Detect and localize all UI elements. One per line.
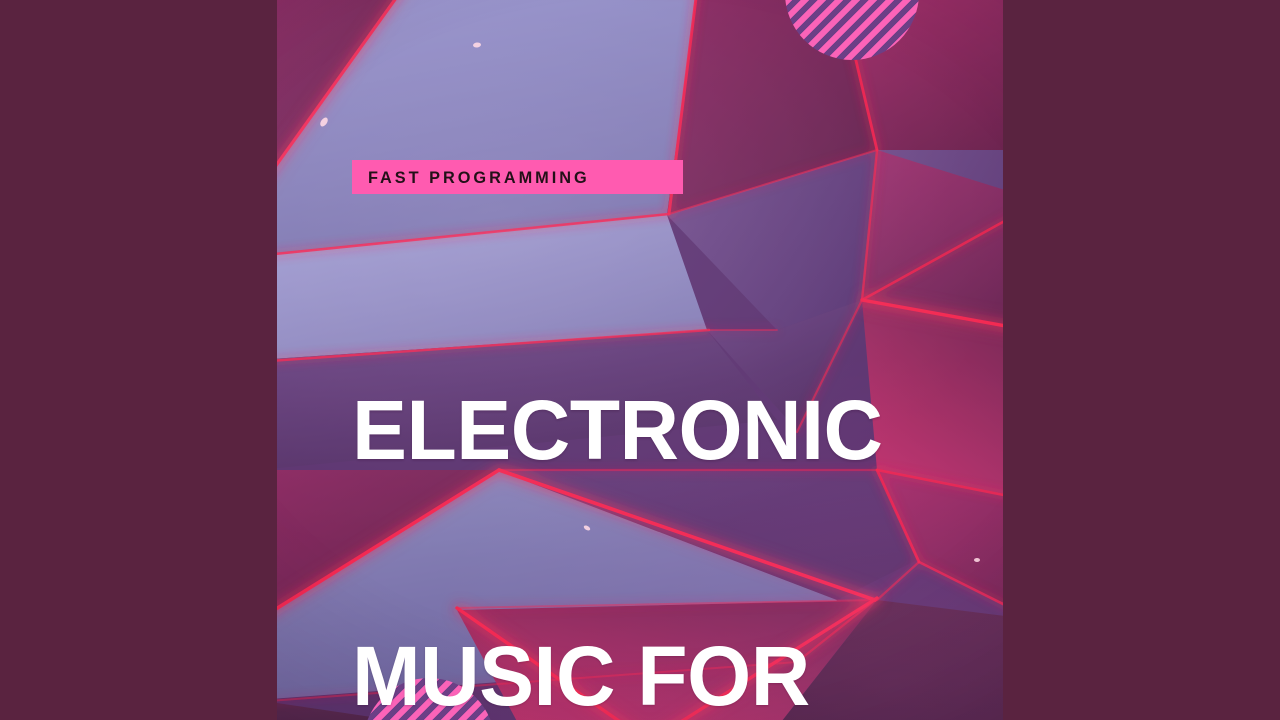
tagline-label: FAST PROGRAMMING (368, 169, 655, 186)
tagline-banner: FAST PROGRAMMING (352, 160, 683, 194)
letterbox-left (0, 0, 277, 720)
album-title-line-2: MUSIC FOR (352, 635, 882, 717)
album-title-line-1: ELECTRONIC (352, 390, 882, 472)
artwork-text-block: FAST PROGRAMMING ELECTRONIC MUSIC FOR CO… (352, 160, 867, 720)
letterbox-right (1003, 0, 1280, 720)
album-title: ELECTRONIC MUSIC FOR CODING (352, 226, 882, 720)
album-artwork: FAST PROGRAMMING ELECTRONIC MUSIC FOR CO… (277, 0, 1003, 720)
video-frame: FAST PROGRAMMING ELECTRONIC MUSIC FOR CO… (0, 0, 1280, 720)
